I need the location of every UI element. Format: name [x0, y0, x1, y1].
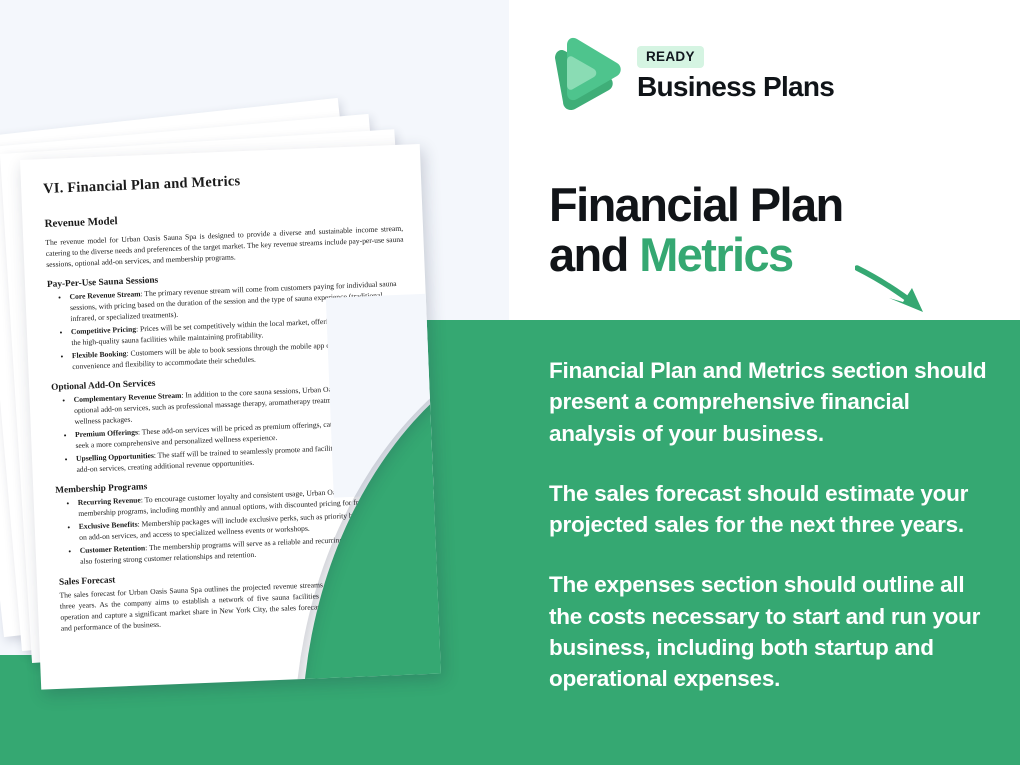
- copy-paragraph-2: The sales forecast should estimate your …: [549, 478, 997, 541]
- document-group-0: Pay-Per-Use Sauna Sessions Core Revenue …: [47, 266, 408, 373]
- copy-paragraph-3: The expenses section should outline all …: [549, 569, 997, 694]
- group-bullet-list: Recurring Revenue: To encourage customer…: [56, 483, 417, 567]
- headline-line-2-prefix: and: [549, 228, 639, 281]
- document-content: VI. Financial Plan and Metrics Revenue M…: [20, 144, 439, 635]
- document-group-2: Membership Programs Recurring Revenue: T…: [55, 471, 416, 567]
- document-group-1: Optional Add-On Services Complementary R…: [51, 369, 412, 476]
- headline-accent: Metrics: [639, 228, 792, 281]
- document-intro-paragraph: The revenue model for Urban Oasis Sauna …: [45, 223, 404, 270]
- brand-name: Business Plans: [637, 72, 834, 101]
- play-logo-icon: [549, 36, 623, 112]
- bullet-term: Premium Offerings: [75, 427, 138, 439]
- description-copy: Financial Plan and Metrics section shoul…: [549, 355, 997, 694]
- slide-root: V Re The inc stre Pay Op M S V Re The in…: [0, 0, 1020, 765]
- bullet-term: Flexible Booking: [72, 349, 127, 360]
- brand-text: READY Business Plans: [637, 46, 834, 101]
- document-page-front[interactable]: VI. Financial Plan and Metrics Revenue M…: [20, 144, 441, 690]
- copy-paragraph-1: Financial Plan and Metrics section shoul…: [549, 355, 997, 449]
- document-stack[interactable]: V Re The inc stre Pay Op M S V Re The in…: [0, 120, 480, 720]
- bullet-term: Upselling Opportunities: [76, 451, 154, 463]
- brand-logo-lockup[interactable]: READY Business Plans: [549, 36, 834, 112]
- group-bullet-list: Complementary Revenue Stream: In additio…: [51, 381, 412, 476]
- bullet-term: Customer Retention: [80, 543, 146, 555]
- group-bullet-list: Core Revenue Stream: The primary revenue…: [47, 278, 408, 373]
- ready-badge: READY: [637, 46, 704, 68]
- bullet-term: Recurring Revenue: [78, 495, 141, 507]
- headline-line-1: Financial Plan: [549, 178, 843, 231]
- bullet-term: Competitive Pricing: [71, 324, 136, 336]
- curved-arrow-icon: [855, 262, 945, 327]
- bullet-term: Core Revenue Stream: [69, 289, 140, 301]
- document-title: VI. Financial Plan and Metrics: [43, 167, 401, 198]
- bullet-term: Exclusive Benefits: [79, 520, 138, 531]
